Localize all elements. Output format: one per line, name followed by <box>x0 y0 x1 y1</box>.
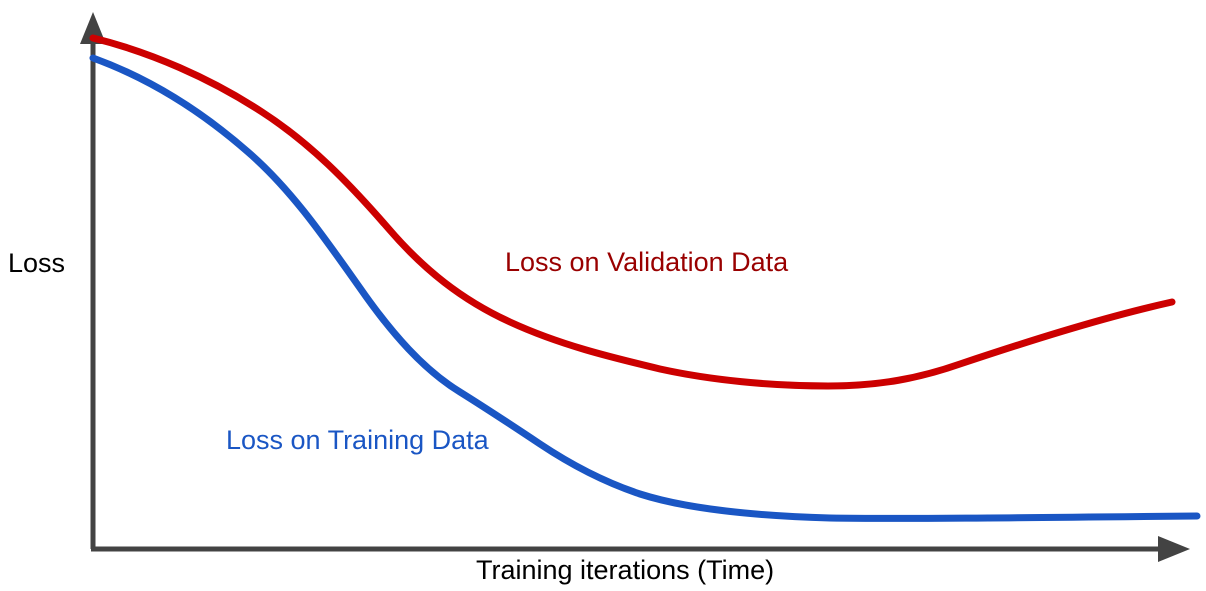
validation-loss-curve <box>93 38 1172 386</box>
y-axis-label: Loss <box>8 250 65 277</box>
training-series-annotation: Loss on Training Data <box>226 427 489 454</box>
chart-canvas <box>0 0 1206 591</box>
loss-curve-chart: Loss Training iterations (Time) Loss on … <box>0 0 1206 591</box>
validation-series-annotation: Loss on Validation Data <box>505 249 788 276</box>
x-axis-arrowhead-icon <box>1158 536 1190 562</box>
x-axis-label: Training iterations (Time) <box>476 557 774 584</box>
